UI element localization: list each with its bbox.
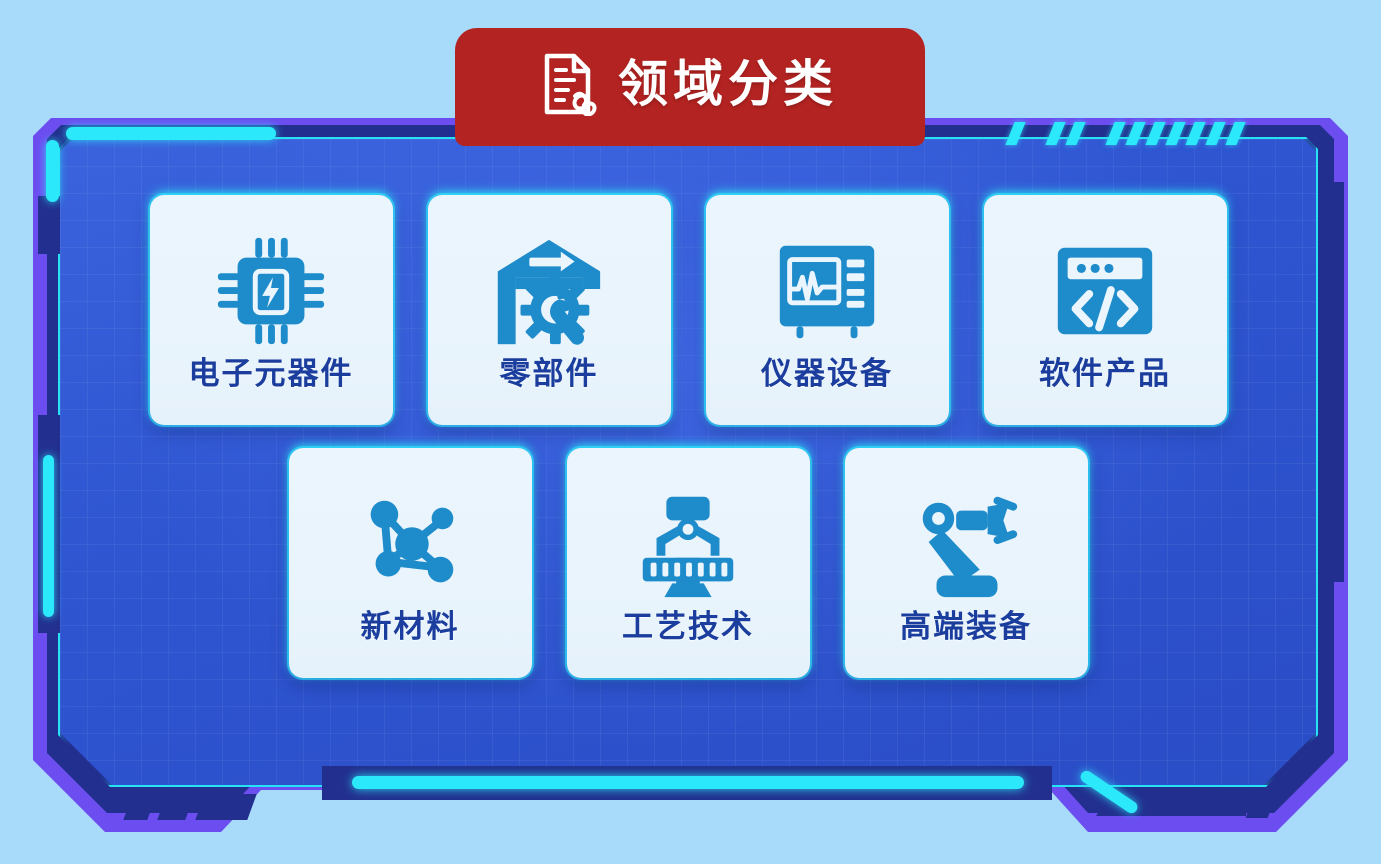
card-process-technology[interactable]: 工艺技术: [567, 448, 810, 678]
card-high-end-equipment[interactable]: 高端装备: [845, 448, 1088, 678]
oscilloscope-icon: [768, 232, 886, 350]
card-electronic-components[interactable]: 电子元器件: [150, 195, 393, 425]
chip-icon: [212, 232, 330, 350]
page-title: 领域分类: [618, 59, 838, 109]
category-row-2: 新材料: [60, 448, 1316, 678]
warehouse-gear-icon: [490, 232, 608, 350]
card-label: 新材料: [361, 611, 460, 642]
category-grid: 电子元器件: [60, 139, 1316, 785]
card-label: 电子元器件: [189, 358, 354, 389]
document-link-icon: [542, 52, 600, 116]
card-label: 软件产品: [1039, 358, 1171, 389]
card-new-materials[interactable]: 新材料: [289, 448, 532, 678]
molecule-icon: [351, 485, 469, 603]
card-label: 工艺技术: [622, 611, 754, 642]
category-row-1: 电子元器件: [60, 195, 1316, 425]
process-machine-icon: [629, 485, 747, 603]
card-label: 零部件: [500, 358, 599, 389]
card-label: 高端装备: [900, 611, 1032, 642]
robot-arm-icon: [907, 485, 1025, 603]
poster-root: 领域分类: [0, 0, 1381, 864]
code-window-icon: [1046, 232, 1164, 350]
card-label: 仪器设备: [761, 358, 893, 389]
page-title-banner: 领域分类: [455, 28, 925, 146]
card-spare-parts[interactable]: 零部件: [428, 195, 671, 425]
card-software-products[interactable]: 软件产品: [984, 195, 1227, 425]
card-instruments[interactable]: 仪器设备: [706, 195, 949, 425]
